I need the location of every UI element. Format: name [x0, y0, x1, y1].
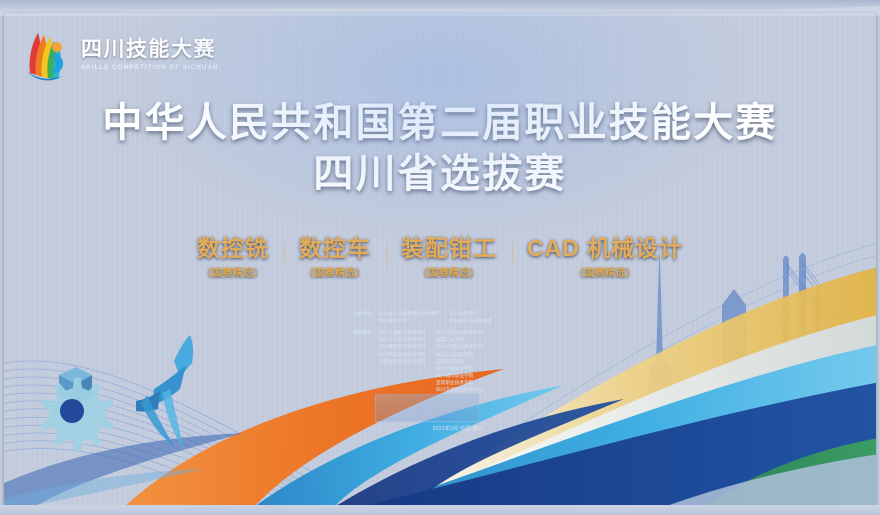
organizer-name: 四川信息职业技术学院 — [436, 329, 483, 336]
gear-hub — [60, 399, 84, 423]
skyline-group — [644, 245, 821, 485]
organizer-name: 成都师范学院 — [436, 358, 483, 365]
host-name: 四川省工商业联合会 — [450, 317, 492, 324]
left-line-waves — [4, 361, 340, 507]
category-list: 数控铣 （国赛精选） 数控车 （国赛精选） 装配钳工 （国赛精选） CAD 机械… — [4, 235, 876, 279]
organizer-name: 四川建筑职业技术学院 — [379, 343, 426, 350]
hosts-left-column: 四川省人力资源和社会保障厅 四川省总工会 — [379, 310, 440, 324]
category-item: 数控车 （国赛精选） — [284, 235, 386, 279]
organizer-name: 成都航空职业技术学院 — [379, 358, 426, 365]
host-name: 四川省教育厅 — [450, 310, 492, 317]
organizer-name: 四川城市职业学院 — [436, 372, 483, 379]
host-name: 四川省总工会 — [379, 317, 440, 324]
logo-name-en: SKILLS COMPETITION OF SICHUAN — [81, 64, 218, 71]
logo-name-cn: 四川技能大赛 — [81, 39, 218, 61]
organizer-name: 四川护理职业学院 — [436, 365, 483, 372]
organizer-name: 成都工业学院 — [436, 336, 483, 343]
category-note: （国赛精选） — [401, 264, 497, 279]
organizer-name: 宜宾职业技术学院 — [436, 379, 483, 386]
hosts-label: 主办单位： — [353, 310, 379, 324]
organizer-name: 四川工程职业技术学院 — [436, 343, 483, 350]
category-name: 数控车 — [299, 235, 371, 261]
headline-line-1: 中华人民共和国第二届职业技能大赛 — [4, 101, 876, 146]
hosts-right-column: 四川省教育厅 四川省工商业联合会 — [450, 310, 492, 324]
blank-info-panel — [375, 394, 479, 422]
event-headline: 中华人民共和国第二届职业技能大赛 四川省选拔赛 — [4, 101, 876, 198]
organizer-name: 四川工业科技学院 — [436, 351, 483, 358]
organizer-name: 四川交通职业技术学院 — [379, 329, 426, 336]
event-backdrop-board: 四川技能大赛 SKILLS COMPETITION OF SICHUAN 中华人… — [4, 13, 876, 507]
ribbon-green — [704, 437, 876, 507]
category-note: （国赛精选） — [299, 264, 371, 279]
category-name: 数控铣 — [197, 235, 269, 261]
cube-icon — [59, 367, 92, 405]
category-note: （国赛精选） — [527, 264, 683, 279]
organizer-name: 四川航天职业技术学院 — [379, 336, 426, 343]
category-item: 装配钳工 （国赛精选） — [386, 235, 512, 279]
organizer-name: 四川机电职业技术学院 — [379, 351, 426, 358]
category-item: 数控铣 （国赛精选） — [182, 235, 284, 279]
photo-background-bottom — [0, 505, 880, 515]
organizers-label: 承办单位： — [353, 329, 379, 393]
category-note: （国赛精选） — [197, 264, 269, 279]
competition-logo: 四川技能大赛 SKILLS COMPETITION OF SICHUAN — [22, 27, 218, 83]
space-shuttle-icon — [136, 335, 193, 451]
organizer-name: 四川交通职业技术学院 — [436, 386, 483, 393]
gear-icon — [41, 378, 114, 451]
date-location-text: 2023年3月 中国·四川 — [353, 425, 563, 432]
hosts-block: 主办单位： 四川省人力资源和社会保障厅 四川省总工会 四川省教育厅 四川省工商业… — [353, 310, 563, 324]
category-item: CAD 机械设计 （国赛精选） — [512, 235, 698, 279]
category-name: CAD 机械设计 — [527, 235, 683, 261]
organizers-right-column: 四川信息职业技术学院 成都工业学院 四川工程职业技术学院 四川工业科技学院 成都… — [436, 329, 483, 393]
credits-block: 主办单位： 四川省人力资源和社会保障厅 四川省总工会 四川省教育厅 四川省工商业… — [353, 310, 563, 398]
organizers-left-column: 四川交通职业技术学院 四川航天职业技术学院 四川建筑职业技术学院 四川机电职业技… — [379, 329, 426, 393]
logo-flame-swoosh-icon — [22, 27, 74, 83]
organizers-block: 承办单位： 四川交通职业技术学院 四川航天职业技术学院 四川建筑职业技术学院 四… — [353, 329, 563, 393]
screenshot-root: 四川技能大赛 SKILLS COMPETITION OF SICHUAN 中华人… — [0, 0, 880, 515]
category-name: 装配钳工 — [401, 235, 497, 261]
headline-line-2: 四川省选拔赛 — [4, 150, 876, 198]
host-name: 四川省人力资源和社会保障厅 — [379, 310, 440, 317]
